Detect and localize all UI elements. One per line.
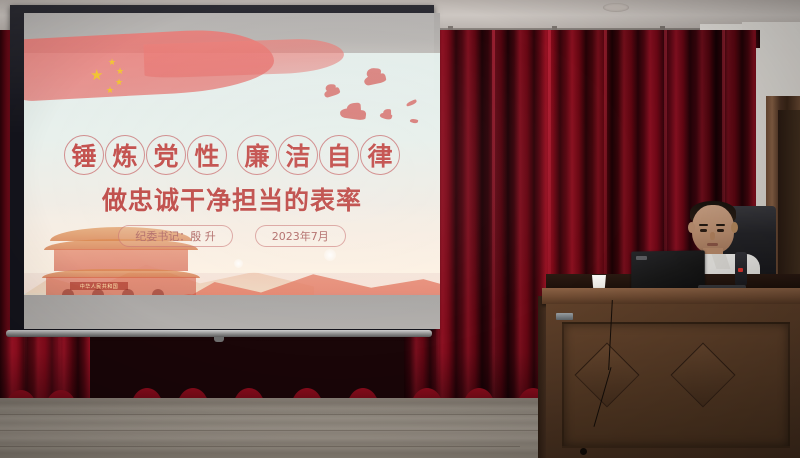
title-char: 律 — [360, 135, 400, 175]
slide-title: 锤 炼 党 性 廉 洁 自 律 — [24, 135, 440, 175]
flag-star-icon: ★ — [108, 59, 116, 68]
laptop-brand-logo-icon — [636, 256, 647, 260]
title-char: 炼 — [105, 135, 145, 175]
screen-bottom-weight-bar — [6, 330, 432, 337]
projector-screen-frame: ★ ★ ★ ★ ★ — [10, 5, 434, 330]
title-char: 锤 — [64, 135, 104, 175]
podium-top-ledge — [542, 288, 800, 304]
title-char: 自 — [319, 135, 359, 175]
speaker-eye — [717, 229, 724, 232]
light-glow — [234, 259, 243, 268]
title-char: 洁 — [278, 135, 318, 175]
title-char: 党 — [146, 135, 186, 175]
speaker-nose — [710, 232, 715, 240]
speaker-eyebrow — [716, 224, 725, 226]
microphone-led-indicator — [738, 268, 743, 272]
slide-bottom-band — [24, 295, 440, 329]
projector-screen-surface: ★ ★ ★ ★ ★ — [24, 13, 440, 329]
floor-plank-line — [0, 414, 560, 415]
speaker-ear — [688, 222, 695, 233]
floor-plank-line — [0, 430, 540, 431]
title-char: 廉 — [237, 135, 277, 175]
speaker-mouth — [707, 243, 718, 246]
flag-star-icon: ★ — [115, 79, 123, 88]
floor-plank-line — [0, 446, 520, 447]
podium-label-plate — [556, 313, 573, 320]
flag-star-icon: ★ — [116, 68, 124, 77]
conference-room-scene: ★ ★ ★ ★ ★ — [0, 0, 800, 458]
speaker-ear — [731, 222, 738, 233]
speaker-eye — [700, 229, 707, 232]
slide-credits-row: 纪委书记：殷 升 2023年7月 — [24, 225, 440, 247]
light-glow — [324, 249, 336, 261]
speaker-eyebrow — [699, 224, 708, 226]
presenter-pill: 纪委书记：殷 升 — [118, 225, 233, 247]
screen-pull-knob[interactable] — [214, 337, 224, 342]
cable-plug — [580, 448, 587, 455]
flag-star-icon: ★ — [106, 87, 114, 96]
flag-star-icon: ★ — [90, 68, 103, 83]
ceiling-vent-icon — [603, 3, 629, 12]
tiananmen-upper-hall — [54, 249, 188, 271]
slide-subtitle: 做忠诚干净担当的表率 — [24, 181, 440, 217]
date-pill: 2023年7月 — [255, 225, 346, 247]
title-char: 性 — [187, 135, 227, 175]
